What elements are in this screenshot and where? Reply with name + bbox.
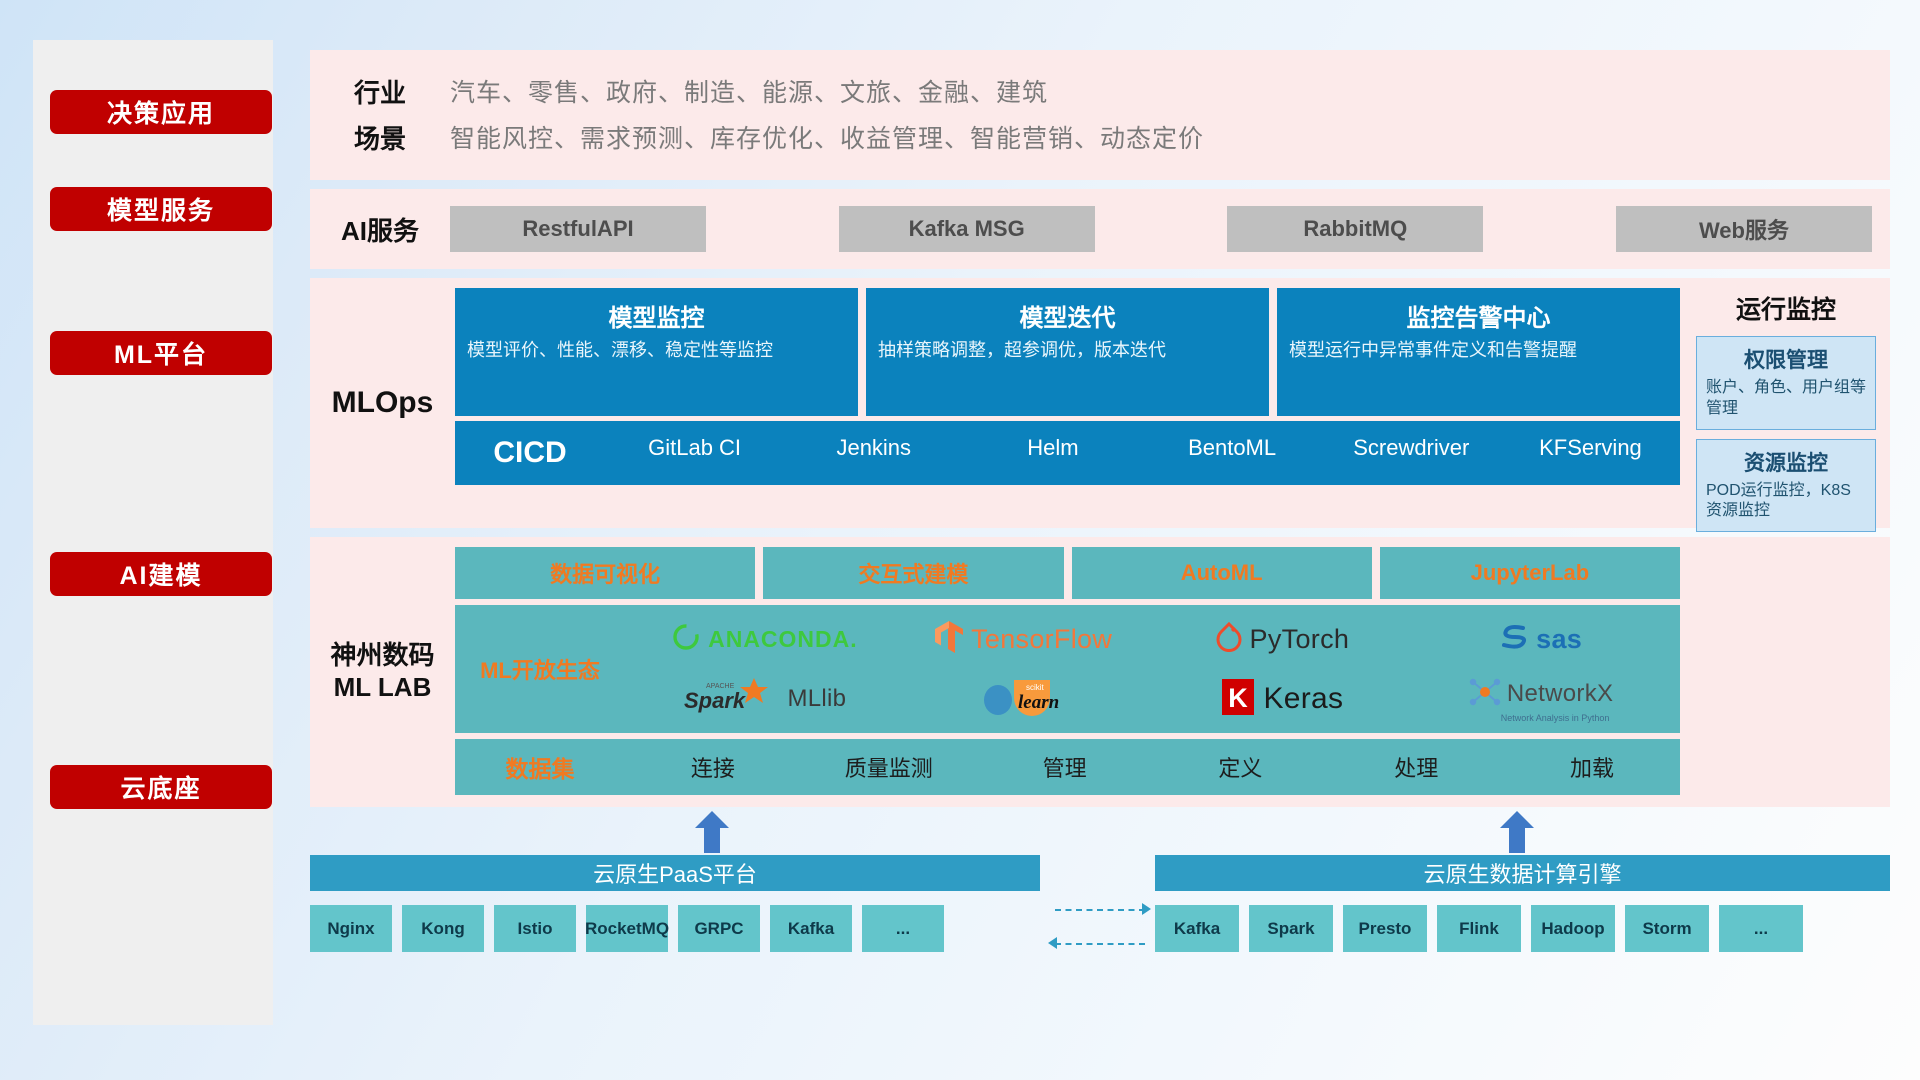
logo-label: Keras <box>1263 682 1343 716</box>
industry-label: 行业 <box>310 73 450 110</box>
logo-label: NetworkX <box>1507 680 1613 708</box>
logo-sas: sas <box>1499 624 1582 655</box>
dashed-connector-left <box>1055 943 1145 945</box>
card-desc: 模型运行中异常事件定义和告警提醒 <box>1289 339 1668 362</box>
ml-lab-stack: 数据可视化 交互式建模 AutoML JupyterLab ML开放生态 <box>455 547 1680 795</box>
svg-text:Spark: Spark <box>684 688 747 713</box>
cicd-tool-bentoml[interactable]: BentoML <box>1143 421 1322 459</box>
chip-kafka-engine[interactable]: Kafka <box>1155 905 1239 952</box>
card-desc: 账户、角色、用户组等管理 <box>1706 378 1866 420</box>
networkx-subtitle: Network Analysis in Python <box>1501 713 1614 723</box>
card-title: 模型监控 <box>467 298 846 333</box>
engine-chips: Kafka Spark Presto Flink Hadoop Storm ..… <box>1155 905 1890 952</box>
card-desc: 模型评价、性能、漂移、稳定性等监控 <box>467 339 846 362</box>
dataset-item-manage[interactable]: 管理 <box>977 751 1153 783</box>
main-column: 行业 汽车、零售、政府、制造、能源、文旅、金融、建筑 场景 智能风控、需求预测、… <box>310 50 1890 983</box>
ml-platform-band: MLOps 模型监控 模型评价、性能、漂移、稳定性等监控 模型迭代 抽样策略调整… <box>310 278 1890 528</box>
cloud-base-band: 云原生PaaS平台 Nginx Kong Istio RocketMQ GRPC… <box>310 833 1890 983</box>
ml-lab-section: 神州数码 ML LAB 数据可视化 交互式建模 AutoML JupyterLa… <box>310 537 1690 807</box>
rail-tag-cloud-base[interactable]: 云底座 <box>50 765 272 809</box>
cicd-tool-kfserving[interactable]: KFServing <box>1501 421 1680 459</box>
arrow-engine-to-modeling <box>1500 811 1534 853</box>
card-desc: POD运行监控，K8S资源监控 <box>1706 481 1866 523</box>
chip-kong[interactable]: Kong <box>402 905 484 952</box>
engine-title: 云原生数据计算引擎 <box>1155 855 1890 891</box>
rail-tag-ml-platform[interactable]: ML平台 <box>50 331 272 375</box>
chip-rocketmq[interactable]: RocketMQ <box>586 905 668 952</box>
svg-text:APACHE: APACHE <box>706 683 735 690</box>
svg-text:scikit: scikit <box>1026 683 1045 692</box>
tensorflow-icon <box>934 620 964 659</box>
ai-service-chip-restfulapi[interactable]: RestfulAPI <box>450 206 706 252</box>
dataset-item-process[interactable]: 处理 <box>1328 751 1504 783</box>
dataset-item-quality[interactable]: 质量监测 <box>801 751 977 783</box>
logo-scikit-learn: scikit learn <box>980 676 1066 723</box>
chip-istio[interactable]: Istio <box>494 905 576 952</box>
runtime-monitoring-column: 运行监控 权限管理 账户、角色、用户组等管理 资源监控 POD运行监控，K8S资… <box>1690 278 1890 528</box>
monitoring-card-resources[interactable]: 资源监控 POD运行监控，K8S资源监控 <box>1696 439 1876 533</box>
ai-service-items: RestfulAPI Kafka MSG RabbitMQ Web服务 <box>450 206 1890 252</box>
networkx-icon <box>1468 676 1502 713</box>
dataset-item-load[interactable]: 加载 <box>1504 751 1680 783</box>
ml-ecosystem-row: ML开放生态 ANACONDA. <box>455 605 1680 733</box>
industry-line: 行业 汽车、零售、政府、制造、能源、文旅、金融、建筑 <box>310 68 1890 114</box>
logo-label: TensorFlow <box>971 624 1112 655</box>
dashed-connector-right <box>1055 909 1145 911</box>
card-title: 模型迭代 <box>878 298 1257 333</box>
ai-service-chip-web-service[interactable]: Web服务 <box>1616 206 1872 252</box>
cicd-tool-gitlab-ci[interactable]: GitLab CI <box>605 421 784 459</box>
chip-grpc[interactable]: GRPC <box>678 905 760 952</box>
ml-lab-tabs: 数据可视化 交互式建模 AutoML JupyterLab <box>455 547 1680 599</box>
chip-hadoop[interactable]: Hadoop <box>1531 905 1615 952</box>
dataset-label: 数据集 <box>455 750 625 784</box>
paas-group: 云原生PaaS平台 Nginx Kong Istio RocketMQ GRPC… <box>310 855 1040 952</box>
chip-nginx[interactable]: Nginx <box>310 905 392 952</box>
scenario-text: 智能风控、需求预测、库存优化、收益管理、智能营销、动态定价 <box>450 119 1204 155</box>
logo-networkx: NetworkX Network Analysis in Python <box>1468 676 1613 723</box>
rail-tag-ai-modeling[interactable]: AI建模 <box>50 552 272 596</box>
dashed-arrow-left-head <box>1048 937 1057 949</box>
chip-kafka[interactable]: Kafka <box>770 905 852 952</box>
arrow-paas-to-modeling <box>695 811 729 853</box>
rail-tag-model-service[interactable]: 模型服务 <box>50 187 272 231</box>
ml-ecosystem-label: ML开放生态 <box>455 605 625 733</box>
chip-flink[interactable]: Flink <box>1437 905 1521 952</box>
tab-interactive-modeling[interactable]: 交互式建模 <box>763 547 1063 599</box>
chip-storm[interactable]: Storm <box>1625 905 1709 952</box>
decision-apps-band: 行业 汽车、零售、政府、制造、能源、文旅、金融、建筑 场景 智能风控、需求预测、… <box>310 50 1890 180</box>
mlops-card-model-iteration[interactable]: 模型迭代 抽样策略调整，超参调优，版本迭代 <box>866 288 1269 416</box>
card-desc: 抽样策略调整，超参调优，版本迭代 <box>878 339 1257 362</box>
svg-text:K: K <box>1229 683 1249 713</box>
card-title: 权限管理 <box>1706 344 1866 374</box>
mlops-cards: 模型监控 模型评价、性能、漂移、稳定性等监控 模型迭代 抽样策略调整，超参调优，… <box>455 288 1680 416</box>
chip-more-engine[interactable]: ... <box>1719 905 1803 952</box>
tab-automl[interactable]: AutoML <box>1072 547 1372 599</box>
industry-text: 汽车、零售、政府、制造、能源、文旅、金融、建筑 <box>450 73 1048 109</box>
scenario-label: 场景 <box>310 119 450 156</box>
chip-presto[interactable]: Presto <box>1343 905 1427 952</box>
monitoring-title: 运行监控 <box>1696 284 1876 336</box>
dashed-arrow-right-head <box>1142 903 1151 915</box>
scikit-learn-icon: scikit learn <box>980 676 1066 723</box>
logo-label: sas <box>1536 624 1582 655</box>
ai-service-chip-kafka-msg[interactable]: Kafka MSG <box>839 206 1095 252</box>
dataset-item-define[interactable]: 定义 <box>1152 751 1328 783</box>
anaconda-icon <box>671 622 701 657</box>
keras-icon: K <box>1220 677 1256 722</box>
ml-lab-label: 神州数码 ML LAB <box>310 547 455 795</box>
monitoring-card-permissions[interactable]: 权限管理 账户、角色、用户组等管理 <box>1696 336 1876 430</box>
logo-keras: K Keras <box>1220 677 1343 722</box>
sas-icon <box>1499 624 1529 655</box>
dataset-row: 数据集 连接 质量监测 管理 定义 处理 加载 <box>455 739 1680 795</box>
logo-anaconda: ANACONDA. <box>671 622 858 657</box>
modeling-right-spacer <box>1690 537 1890 807</box>
cicd-tool-screwdriver[interactable]: Screwdriver <box>1322 421 1501 459</box>
logo-spark-mllib: Spark APACHE MLlib <box>682 677 846 722</box>
ml-ecosystem-logos: ANACONDA. TensorFlow <box>625 605 1680 733</box>
ai-modeling-band: 神州数码 ML LAB 数据可视化 交互式建模 AutoML JupyterLa… <box>310 537 1890 807</box>
mlops-section: MLOps 模型监控 模型评价、性能、漂移、稳定性等监控 模型迭代 抽样策略调整… <box>310 278 1690 528</box>
engine-group: 云原生数据计算引擎 Kafka Spark Presto Flink Hadoo… <box>1155 855 1890 952</box>
scenario-line: 场景 智能风控、需求预测、库存优化、收益管理、智能营销、动态定价 <box>310 114 1890 160</box>
mlops-card-model-monitoring[interactable]: 模型监控 模型评价、性能、漂移、稳定性等监控 <box>455 288 858 416</box>
paas-title: 云原生PaaS平台 <box>310 855 1040 891</box>
logo-label: ANACONDA. <box>708 626 858 653</box>
cicd-tool-jenkins[interactable]: Jenkins <box>784 421 963 459</box>
spark-icon: Spark APACHE <box>682 677 780 722</box>
ai-service-band: AI服务 RestfulAPI Kafka MSG RabbitMQ Web服务 <box>310 189 1890 269</box>
cicd-label: CICD <box>455 436 605 470</box>
cicd-bar: CICD GitLab CI Jenkins Helm BentoML Scre… <box>455 421 1680 485</box>
card-title: 监控告警中心 <box>1289 298 1668 333</box>
rail-tag-decision-apps[interactable]: 决策应用 <box>50 90 272 134</box>
logo-pytorch: PyTorch <box>1215 622 1350 657</box>
cicd-tool-helm[interactable]: Helm <box>963 421 1142 459</box>
dataset-item-connect[interactable]: 连接 <box>625 751 801 783</box>
mlops-stack: 模型监控 模型评价、性能、漂移、稳定性等监控 模型迭代 抽样策略调整，超参调优，… <box>455 288 1690 518</box>
ai-service-label: AI服务 <box>310 211 450 248</box>
ai-service-chip-rabbitmq[interactable]: RabbitMQ <box>1227 206 1483 252</box>
logo-label: MLlib <box>787 685 846 713</box>
pytorch-icon <box>1215 622 1243 657</box>
svg-text:learn: learn <box>1018 692 1059 713</box>
chip-more[interactable]: ... <box>862 905 944 952</box>
mlops-card-alert-center[interactable]: 监控告警中心 模型运行中异常事件定义和告警提醒 <box>1277 288 1680 416</box>
tab-jupyterlab[interactable]: JupyterLab <box>1380 547 1680 599</box>
logo-tensorflow: TensorFlow <box>934 620 1112 659</box>
architecture-diagram: 决策应用 模型服务 ML平台 AI建模 云底座 行业 汽车、零售、政府、制造、能… <box>0 0 1920 1080</box>
card-title: 资源监控 <box>1706 447 1866 477</box>
paas-chips: Nginx Kong Istio RocketMQ GRPC Kafka ... <box>310 905 1040 952</box>
logo-label: PyTorch <box>1250 624 1350 655</box>
mlops-label: MLOps <box>310 288 455 518</box>
chip-spark[interactable]: Spark <box>1249 905 1333 952</box>
tab-data-visualization[interactable]: 数据可视化 <box>455 547 755 599</box>
